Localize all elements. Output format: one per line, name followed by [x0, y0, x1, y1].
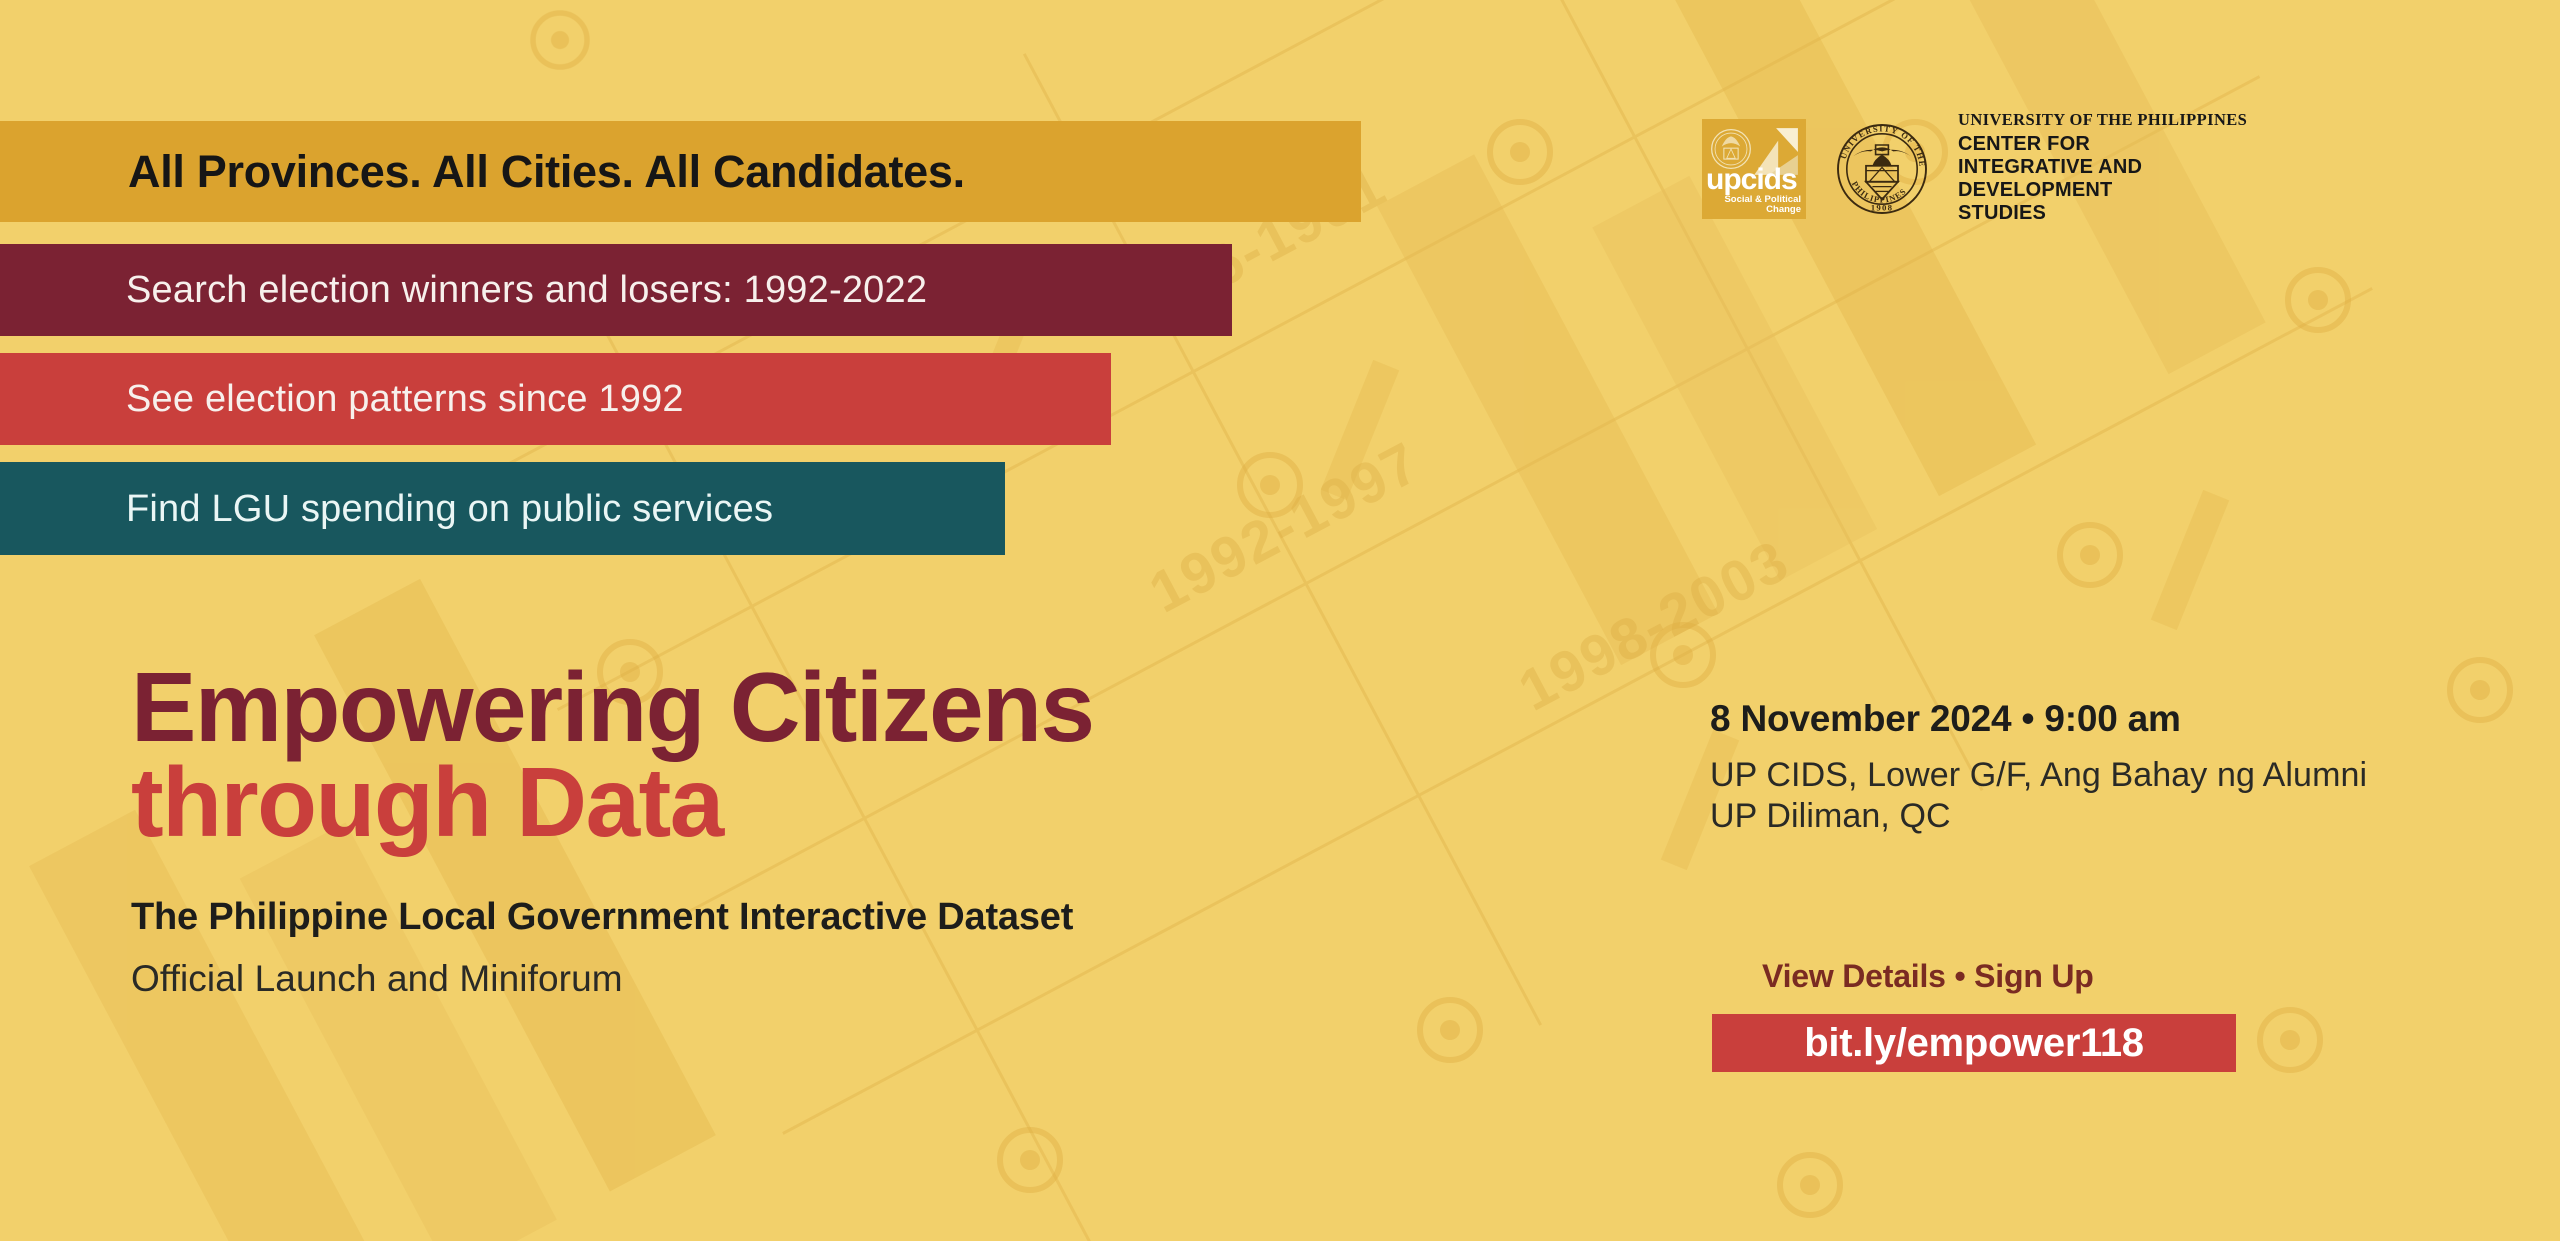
feature-bar-election-patterns: See election patterns since 1992: [0, 353, 1111, 445]
signup-link-button[interactable]: bit.ly/empower118: [1712, 1014, 2236, 1072]
cids-university-line: UNIVERSITY OF THE PHILIPPINES: [1958, 112, 2247, 129]
up-seal-icon: UNIVERSITY OF THE PHILIPPINES 1908: [1834, 121, 1930, 217]
cta-block: View Details • Sign Up bit.ly/empower118: [1762, 960, 2236, 1072]
event-venue-line-2: UP Diliman, QC: [1710, 796, 2367, 837]
page-subtitle: The Philippine Local Government Interact…: [131, 898, 1094, 936]
cids-line-2: INTEGRATIVE AND: [1958, 156, 2247, 179]
cids-line-3: DEVELOPMENT: [1958, 179, 2247, 202]
headline-block: Empowering Citizens through Data The Phi…: [131, 660, 1094, 997]
upcids-wordmark: upcids: [1706, 165, 1797, 195]
feature-bar-search-elections-label: Search election winners and losers: 1992…: [0, 271, 927, 309]
svg-text:PHILIPPINES: PHILIPPINES: [1850, 179, 1909, 204]
up-seal-year: 1908: [1871, 202, 1893, 212]
feature-bar-lgu-spending-label: Find LGU spending on public services: [0, 490, 773, 528]
feature-bar-tagline: All Provinces. All Cities. All Candidate…: [0, 121, 1361, 222]
page-subtitle-secondary: Official Launch and Miniforum: [131, 960, 1094, 997]
event-venue-line-1: UP CIDS, Lower G/F, Ang Bahay ng Alumni: [1710, 755, 2367, 796]
page-title-line-2: through Data: [131, 755, 1094, 850]
cids-line-4: STUDIES: [1958, 202, 2247, 225]
event-datetime: 8 November 2024 • 9:00 am: [1710, 700, 2367, 737]
feature-bar-search-elections: Search election winners and losers: 1992…: [0, 244, 1232, 336]
event-banner: All Provinces. All Cities. All Candidate…: [0, 0, 2560, 1241]
event-details: 8 November 2024 • 9:00 am UP CIDS, Lower…: [1710, 700, 2367, 837]
feature-bar-tagline-label: All Provinces. All Cities. All Candidate…: [0, 149, 965, 194]
signup-link-label: bit.ly/empower118: [1804, 1023, 2144, 1063]
cids-wordmark: UNIVERSITY OF THE PHILIPPINES CENTER FOR…: [1958, 112, 2247, 225]
feature-bar-election-patterns-label: See election patterns since 1992: [0, 380, 684, 418]
logo-lockup: upcids Social & Political Change UNIVERS…: [1702, 112, 2247, 225]
cta-prompt: View Details • Sign Up: [1762, 960, 2236, 992]
page-title-line-1: Empowering Citizens: [131, 660, 1094, 755]
upcids-tagline: Social & Political Change: [1724, 195, 1801, 215]
upcids-logo: upcids Social & Political Change: [1702, 119, 1806, 219]
feature-bar-lgu-spending: Find LGU spending on public services: [0, 462, 1005, 555]
cids-line-1: CENTER FOR: [1958, 133, 2247, 156]
upcids-tagline-line2: Change: [1724, 205, 1801, 215]
